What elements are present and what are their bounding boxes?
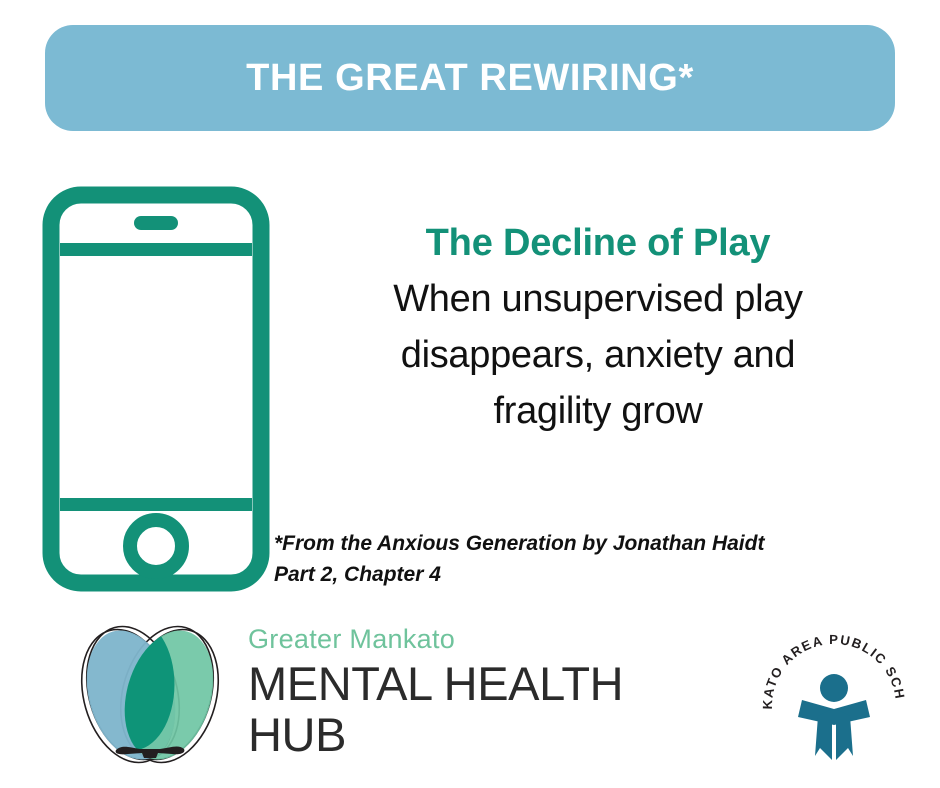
source-attribution: *From the Anxious Generation by Jonathan… xyxy=(274,528,904,590)
mhh-wordmark: Greater Mankato MENTAL HEALTH HUB xyxy=(248,622,623,761)
mhh-sub-text: Greater Mankato xyxy=(248,626,623,653)
banner-title: THE GREAT REWIRING* xyxy=(246,59,694,97)
header-banner: THE GREAT REWIRING* xyxy=(45,25,895,131)
mental-health-hub-logo: Greater Mankato MENTAL HEALTH HUB xyxy=(60,622,623,770)
headline: The Decline of Play xyxy=(300,222,896,265)
message-block: The Decline of Play When unsupervised pl… xyxy=(300,222,896,439)
person-figure-icon xyxy=(798,674,870,760)
body-copy: When unsupervised play disappears, anxie… xyxy=(300,271,896,440)
body-line-1: When unsupervised play xyxy=(300,271,896,327)
mankato-area-public-schools-logo: MANKATO AREA PUBLIC SCHOOLS xyxy=(758,612,910,772)
mhh-main-line-2: HUB xyxy=(248,710,623,761)
mhh-main-text: MENTAL HEALTH HUB xyxy=(248,659,623,761)
smartphone-icon xyxy=(42,186,270,592)
double-heart-icon xyxy=(60,622,240,770)
mhh-main-line-1: MENTAL HEALTH xyxy=(248,659,623,710)
poster-canvas: THE GREAT REWIRING* The Decline of Play … xyxy=(0,0,940,788)
attribution-line-2: Part 2, Chapter 4 xyxy=(274,559,904,590)
body-line-3: fragility grow xyxy=(300,383,896,439)
body-line-2: disappears, anxiety and xyxy=(300,327,896,383)
attribution-line-1: *From the Anxious Generation by Jonathan… xyxy=(274,528,904,559)
